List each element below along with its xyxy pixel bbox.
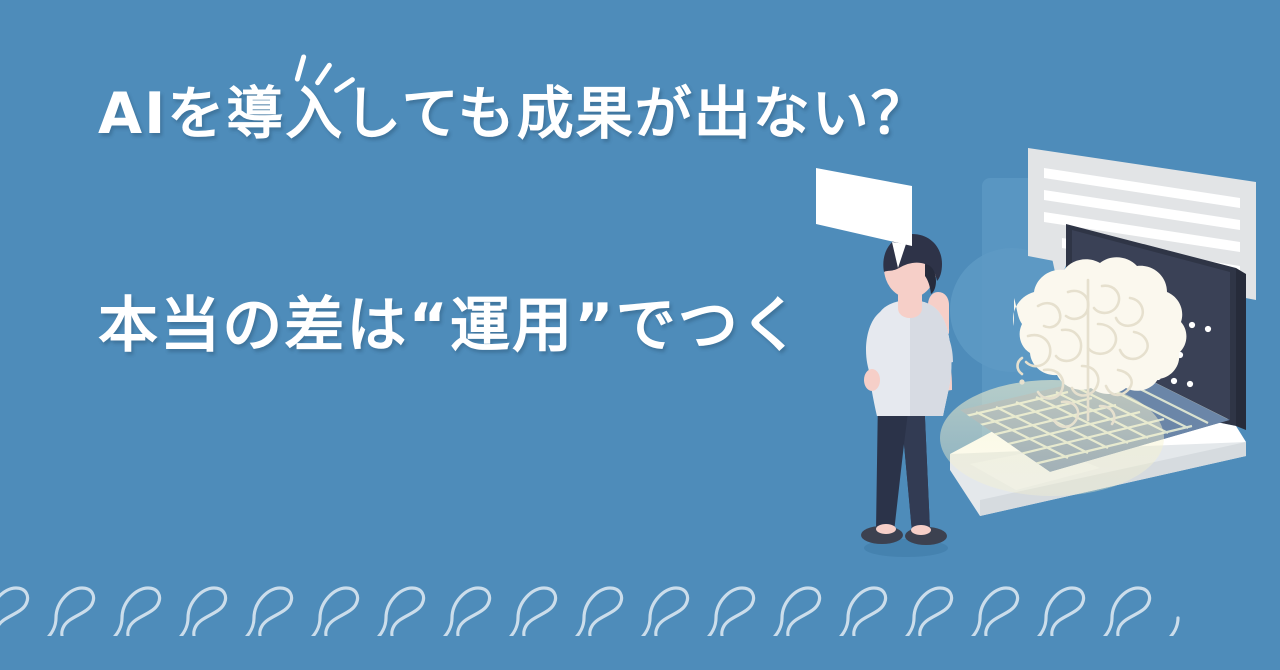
headline-line-1: AIを導入しても成果が出ない？: [98, 86, 930, 143]
banner-canvas: AIを導入しても成果が出ない？ 本当の差は“運用”でつく: [0, 0, 1280, 670]
headline-line-2: 本当の差は“運用”でつく: [98, 296, 802, 356]
speech-bubble-left: [810, 160, 930, 270]
loop-border-decoration: [0, 574, 1280, 636]
person-figure: [820, 230, 1000, 570]
